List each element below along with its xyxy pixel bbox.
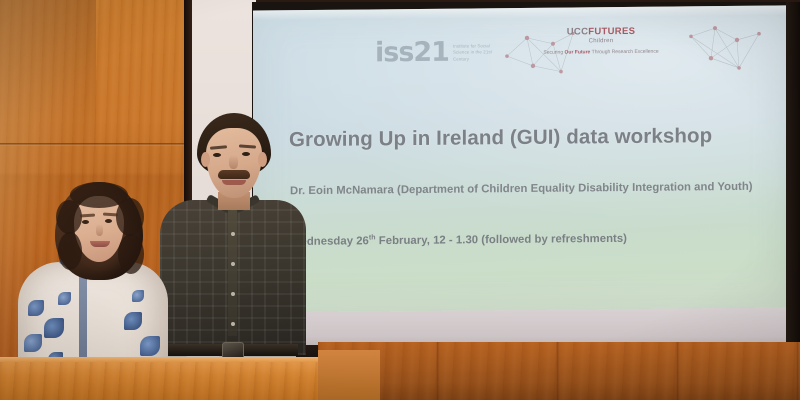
desk-front-panel <box>0 362 318 400</box>
ucc-futures-logo: UCCFUTURES Children Securing Our Future … <box>511 26 691 58</box>
datetime-ordinal: th <box>369 234 376 241</box>
blouse-flower <box>44 318 64 338</box>
man-eye-right <box>242 152 250 156</box>
man-moustache <box>218 170 250 179</box>
datetime-suffix: February, 12 - 1.30 (followed by refresh… <box>376 233 627 247</box>
man-shirt-button <box>231 262 235 266</box>
man-shirt-placket <box>228 206 237 336</box>
desk-right-section <box>318 342 800 400</box>
tagline-bold: Our Future <box>565 50 591 56</box>
iss21-logo: iss21 Institute for Social Science in th… <box>375 38 499 66</box>
man-ear-right <box>258 152 267 167</box>
slide-logo-row: iss21 Institute for Social Science in th… <box>253 19 788 86</box>
slide-title: Growing Up in Ireland (GUI) data worksho… <box>289 124 759 153</box>
futures-label: FUTURES <box>588 26 635 37</box>
slide-datetime-line: Wednesday 26th February, 12 - 1.30 (foll… <box>290 230 790 248</box>
man-nose <box>229 155 238 169</box>
man-shirt-button <box>231 322 235 326</box>
wood-wall-shadow <box>0 0 96 215</box>
network-graphic-right <box>685 24 765 83</box>
blouse-flower <box>140 336 160 356</box>
blouse-flower <box>24 334 42 352</box>
blouse-flower <box>58 292 71 305</box>
woman-hair-top <box>70 182 128 208</box>
woman-nose <box>96 224 103 236</box>
screen-right-edge <box>786 2 800 350</box>
woman-hair-curl <box>118 234 144 274</box>
slide-presenter-line: Dr. Eoin McNamara (Department of Childre… <box>290 180 790 197</box>
man-eye-left <box>213 153 221 157</box>
photo-scene: iss21 Institute for Social Science in th… <box>0 0 800 400</box>
man-shirt-button <box>231 232 235 236</box>
man-shirt-button <box>231 292 235 296</box>
woman-hair-curl <box>58 232 82 270</box>
ucc-futures-tagline: Securing Our Future Through Research Exc… <box>511 49 691 58</box>
man-mouth <box>222 180 246 185</box>
blouse-flower <box>132 290 144 302</box>
woman-hair-curl <box>56 200 82 234</box>
iss21-tagline: Institute for Social Science in the 21st… <box>453 43 499 66</box>
blouse-flower <box>124 312 142 330</box>
man-ear-left <box>201 152 210 167</box>
presentation-slide: iss21 Institute for Social Science in th… <box>253 5 788 312</box>
blouse-flower <box>28 300 44 316</box>
woman-eye-right <box>105 219 112 223</box>
ucc-futures-wordmark: UCCFUTURES <box>511 26 691 38</box>
ucc-label: UCC <box>567 26 588 37</box>
iss21-wordmark: iss21 <box>375 39 449 67</box>
woman-mouth <box>90 241 110 247</box>
desk-corner-notch <box>318 350 380 400</box>
wood-panel-seam <box>0 143 186 146</box>
woman-eye-left <box>82 220 89 224</box>
tagline-pre: Securing <box>543 50 564 56</box>
ucc-futures-theme: Children <box>511 38 691 46</box>
tagline-post: Through Research Excellence <box>590 49 658 56</box>
